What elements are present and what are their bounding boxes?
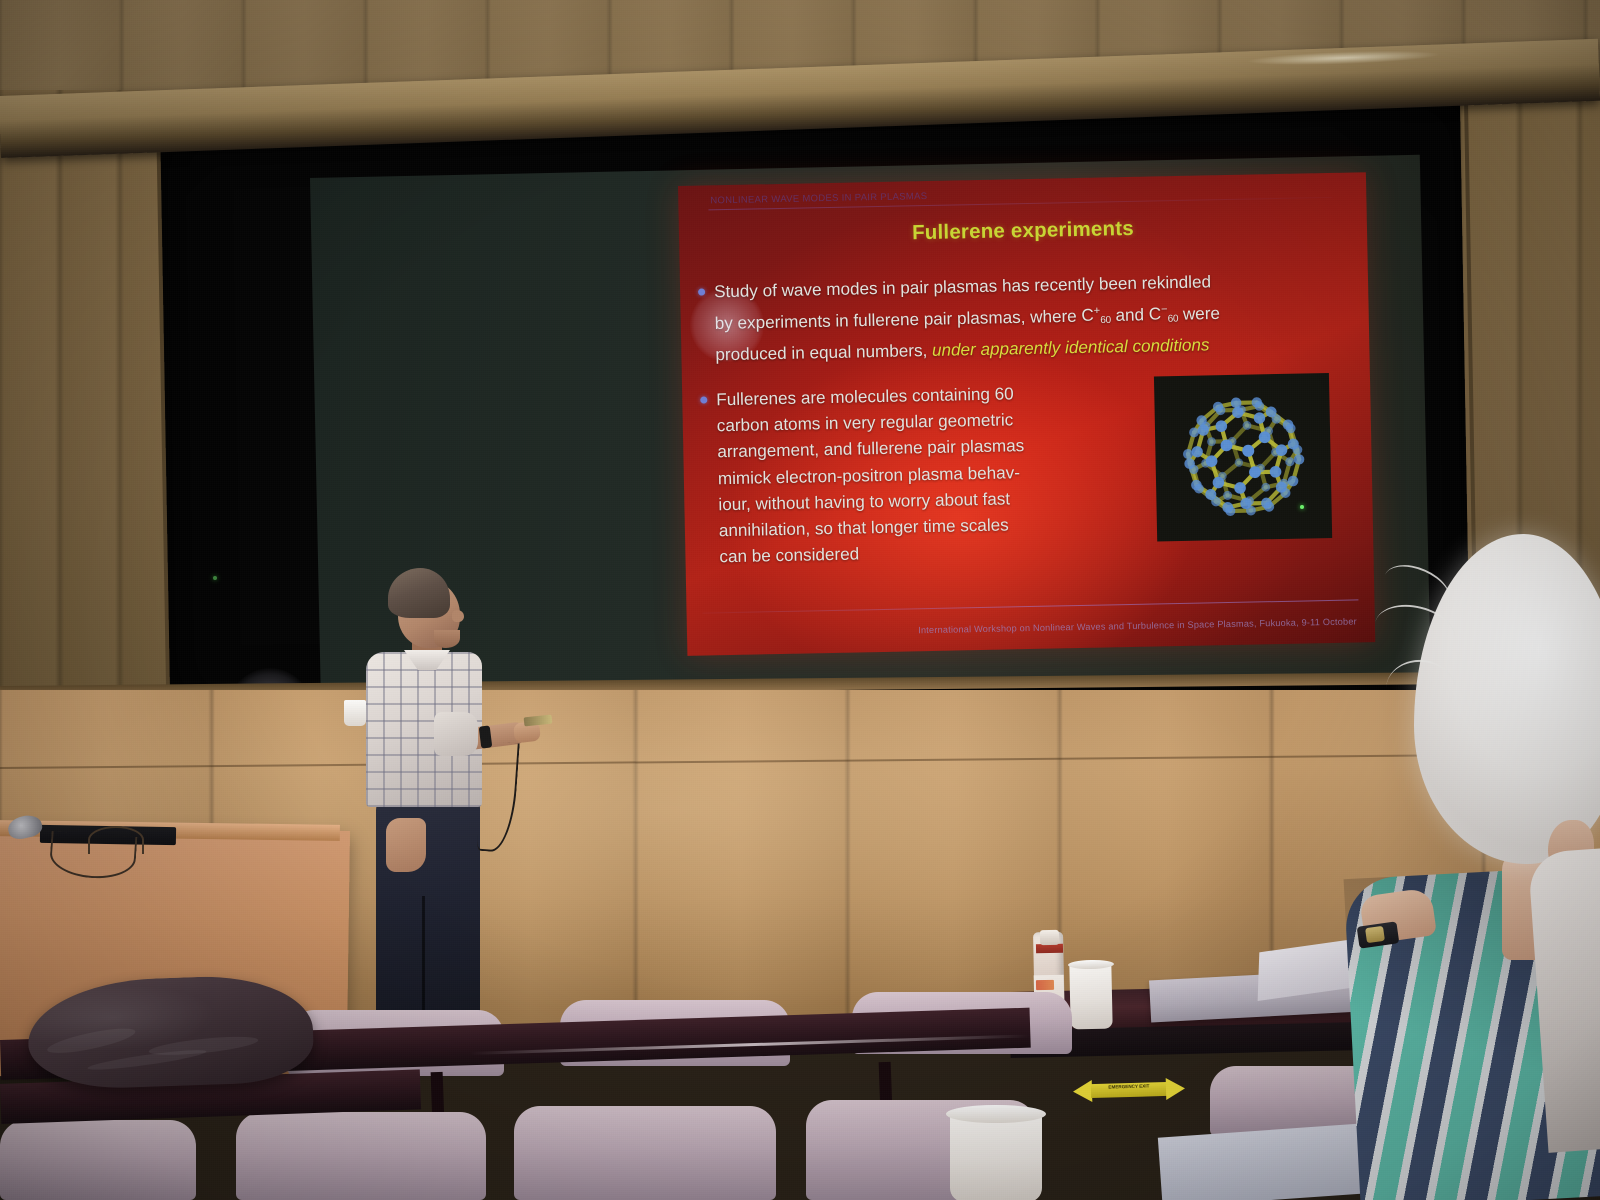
paper-cup xyxy=(344,700,366,726)
fullerene-svg xyxy=(1154,373,1332,541)
presenter-sleeve xyxy=(434,712,478,756)
paper-sheet-foreground xyxy=(1158,1122,1382,1200)
projected-slide: NONLINEAR WAVE MODES IN PAIR PLASMAS Ful… xyxy=(678,172,1375,656)
fullerene-c60-figure xyxy=(1154,373,1332,541)
stray-light-dot xyxy=(213,576,217,580)
cable xyxy=(88,826,144,854)
bullet-1-line-2-pre: by experiments in fullerene pair plasmas… xyxy=(715,306,1082,332)
arrow-left-icon xyxy=(1073,1080,1093,1103)
seat xyxy=(236,1112,486,1200)
bullet-dot-icon xyxy=(698,288,705,295)
paper-cup xyxy=(1069,963,1112,1030)
seat xyxy=(0,1120,196,1200)
jacket-fold xyxy=(87,1047,207,1074)
slide-title: Fullerene experiments xyxy=(679,212,1367,250)
slide-footer-rule xyxy=(703,599,1359,613)
presenter-nose xyxy=(452,610,464,622)
paper-cup-foreground xyxy=(950,1110,1042,1200)
valance-light xyxy=(1248,49,1438,68)
arrow-right-icon xyxy=(1166,1077,1186,1100)
presenter-hair xyxy=(388,568,450,618)
slide-bullet-1: Study of wave modes in pair plasmas has … xyxy=(698,267,1324,369)
water-bottle-neck-ring xyxy=(1036,944,1063,954)
slide-bullet-2: Fullerenes are molecules containing 60 c… xyxy=(700,379,1124,571)
seat xyxy=(514,1106,776,1200)
foreground-audience-member xyxy=(1352,520,1600,1200)
slide-footer-text: International Workshop on Nonlinear Wave… xyxy=(717,616,1357,639)
bullet-1-emphasis: under apparently identical conditions xyxy=(932,336,1210,361)
paper-cup-foreground-rim xyxy=(946,1105,1046,1123)
presenter-chin xyxy=(434,630,460,648)
lecture-hall-photo: NONLINEAR WAVE MODES IN PAIR PLASMAS Ful… xyxy=(0,0,1600,1200)
presenter xyxy=(368,566,498,1036)
audience-wristwatch-face xyxy=(1365,926,1385,943)
c60-cation: C+60 xyxy=(1081,306,1111,326)
bullet-1-line-3-pre: produced in equal numbers, xyxy=(715,341,932,364)
water-bottle-label-mark xyxy=(1036,980,1054,990)
left-wall-panelling xyxy=(0,90,175,740)
double-arrow-sticker: EMERGENCY EXIT xyxy=(1073,1077,1186,1102)
jacket-fold xyxy=(46,1024,137,1058)
presenter-hand-in-pocket xyxy=(386,818,426,872)
laser-pointer-dot xyxy=(1300,505,1304,509)
c60-anion: C−60 xyxy=(1149,304,1179,324)
water-bottle-cap xyxy=(1040,930,1059,945)
